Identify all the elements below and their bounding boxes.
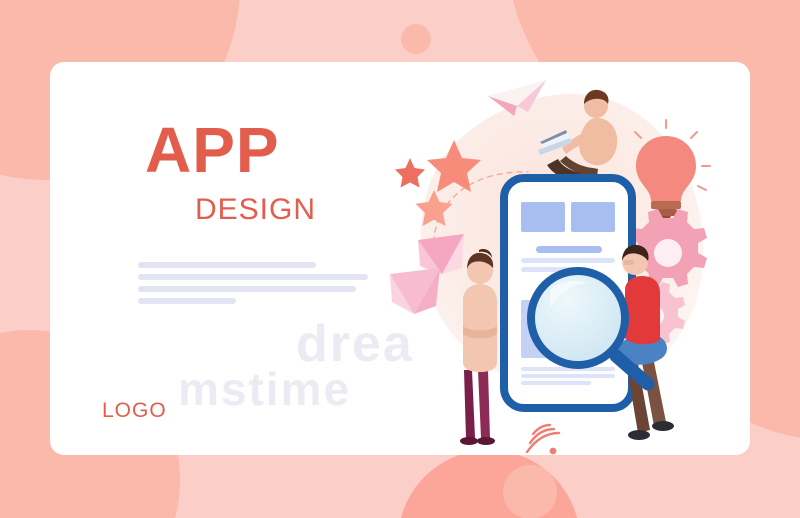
ui-line bbox=[521, 381, 591, 385]
page-subtitle: DESIGN bbox=[195, 195, 316, 225]
illustration-slide: APP DESIGN LOGO drea mstime ime bbox=[0, 0, 800, 518]
page-title: APP bbox=[145, 118, 280, 182]
app-design-illustration bbox=[380, 62, 750, 455]
ui-block-left bbox=[521, 202, 565, 232]
ui-block-right bbox=[571, 202, 615, 232]
placeholder-line bbox=[138, 274, 368, 280]
background-circle-bottom-small bbox=[503, 465, 557, 518]
content-card: APP DESIGN LOGO drea mstime ime bbox=[50, 62, 750, 455]
ui-line bbox=[521, 258, 615, 263]
star-small-icon bbox=[395, 158, 425, 188]
placeholder-line bbox=[138, 286, 356, 292]
ui-line bbox=[521, 374, 615, 378]
background-circle-small-top bbox=[401, 24, 431, 54]
watermark-text: mstime bbox=[178, 362, 351, 416]
ui-title-bar bbox=[536, 246, 602, 253]
envelope-lower-icon bbox=[390, 268, 440, 314]
placeholder-paragraph bbox=[138, 262, 368, 310]
placeholder-line bbox=[138, 262, 316, 268]
logo-text: LOGO bbox=[102, 399, 167, 423]
placeholder-line bbox=[138, 298, 236, 304]
wifi-signal-icon bbox=[527, 425, 559, 454]
